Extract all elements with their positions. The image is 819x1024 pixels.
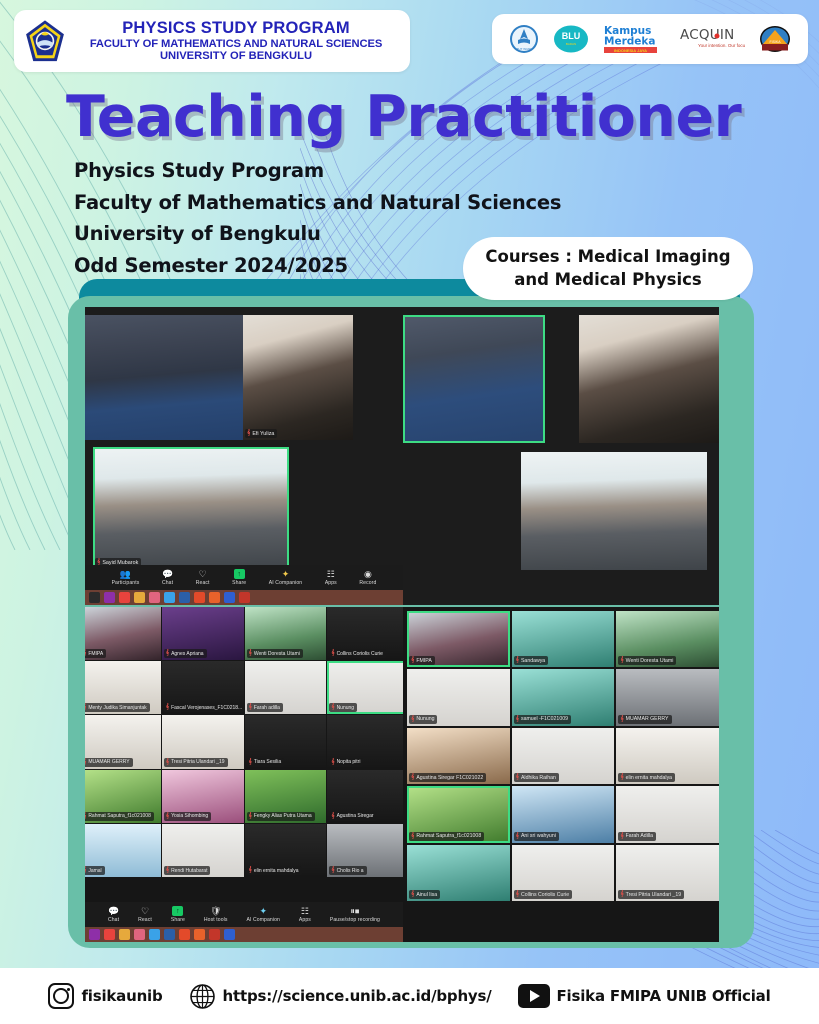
video-tile[interactable]: 𝄞Menty Judika Simanjuntak xyxy=(85,661,161,714)
video-tile[interactable]: 𝄞Aldhika Raihan xyxy=(512,728,615,784)
zoom-toolbar-controls: 💬Chat ♡React ↑Share 🛡Host tools ✦AI Comp… xyxy=(85,902,403,927)
taskbar-app-icon[interactable] xyxy=(134,929,145,940)
institution-header-card: PHYSICS STUDY PROGRAM FACULTY OF MATHEMA… xyxy=(14,10,410,72)
mic-icon: 𝄞 xyxy=(166,813,169,820)
tile-caption: 𝄞Aldhika Raihan xyxy=(514,773,559,782)
mic-icon: 𝄞 xyxy=(249,867,252,874)
mic-icon: 𝄞 xyxy=(620,833,623,840)
taskbar-app-icon[interactable] xyxy=(179,929,190,940)
video-tile[interactable]: 𝄞Wenti Doresta Utami xyxy=(245,607,327,660)
taskbar-app-icon[interactable] xyxy=(209,592,220,603)
mic-icon: 𝄞 xyxy=(331,650,334,657)
apps-icon: ☷ xyxy=(301,907,309,916)
header-line-1: PHYSICS STUDY PROGRAM xyxy=(72,19,400,37)
mic-icon: 𝄞 xyxy=(166,704,169,711)
taskbar-app-icon[interactable] xyxy=(89,592,100,603)
tile-caption: 𝄞Wenti Doresta Utami xyxy=(618,656,676,665)
footer-website[interactable]: https://science.unib.ac.id/bphys/ xyxy=(189,983,492,1010)
tile-caption: 𝄞Yosia Sihombing xyxy=(164,812,211,821)
participant-name: Menty Judika Simanjuntak xyxy=(88,705,146,711)
video-tile-active-speaker[interactable]: 𝄞Sayid Mubarok xyxy=(93,447,289,569)
video-tile[interactable]: 𝄞Nunung xyxy=(407,669,510,725)
gallery-grid: 𝄞FMIPA𝄞Sandawya𝄞Wenti Doresta Utami𝄞Nunu… xyxy=(407,611,719,901)
react-button[interactable]: ♡React xyxy=(138,907,152,923)
tile-caption: 𝄞Nopita pitri xyxy=(329,758,363,767)
chat-button[interactable]: 💬Chat xyxy=(108,907,119,923)
pause-stop-recording-button[interactable]: ⏸⏹Pause/stop recording xyxy=(330,907,380,923)
video-tile[interactable]: 𝄞Wenti Doresta Utami xyxy=(616,611,719,667)
svg-text:BLU: BLU xyxy=(562,31,581,41)
participant-name: Ainul lisa xyxy=(416,892,437,898)
accreditation-logos-card: TUT WURI BLU BADAN Kampus Merdeka INDONE… xyxy=(492,14,808,64)
tile-caption: 𝄞Cholis Rio a xyxy=(329,866,366,875)
participant-name: Yosia Sihombing xyxy=(171,813,208,819)
mic-icon: 𝄞 xyxy=(85,650,86,657)
svg-text:Your intention. Our focus.: Your intention. Our focus. xyxy=(698,43,745,48)
video-tile[interactable]: 𝄞Sayid Mubarok xyxy=(521,452,707,570)
mic-icon: 𝄞 xyxy=(516,891,519,898)
video-tile[interactable]: 𝄞Farah adilla xyxy=(245,661,327,714)
tile-caption: 𝄞Menty Judika Simanjuntak xyxy=(85,703,150,712)
taskbar-app-icon[interactable] xyxy=(134,592,145,603)
video-tile[interactable]: 𝄞Tresi Pitria Ulandari _19 xyxy=(616,845,719,901)
taskbar-app-icon[interactable] xyxy=(179,592,190,603)
zoom-window-top-left: 𝄞Efi Yuliza 𝄞Sayid Mubarok 👥Participants… xyxy=(85,307,403,605)
video-tile[interactable]: 𝄞Collins Coriolis Curie xyxy=(512,845,615,901)
tile-caption: 𝄞Rahmat Saputra_f1c021008 xyxy=(85,812,154,821)
zoom-window-bottom-left: 𝄞FMIPA𝄞Agnes Apriana𝄞Wenti Doresta Utami… xyxy=(85,607,403,942)
participant-name: elin ernita mahdalya xyxy=(626,775,672,781)
windows-taskbar xyxy=(85,590,403,605)
chat-icon: 💬 xyxy=(108,907,119,916)
blu-logo: BLU BADAN xyxy=(553,24,589,54)
taskbar-app-icon[interactable] xyxy=(194,592,205,603)
video-tile-active-speaker[interactable]: 𝄞FMIPA xyxy=(407,611,510,667)
video-tile[interactable]: 𝄞Jamal xyxy=(85,824,161,877)
participant-name: Nunung xyxy=(416,716,434,722)
tile-caption: 𝄞samuel -F1C021009 xyxy=(514,715,571,724)
mic-icon: 𝄞 xyxy=(85,813,86,820)
tile-caption: 𝄞Collins Coriolis Curie xyxy=(514,890,572,899)
subtitle-line-1: Physics Study Program xyxy=(74,155,634,187)
footer-youtube-label: Fisika FMIPA UNIB Official xyxy=(557,987,771,1005)
video-tile[interactable] xyxy=(85,315,243,440)
mic-icon: 𝄞 xyxy=(85,867,86,874)
taskbar-app-icon[interactable] xyxy=(149,929,160,940)
gallery-grid: 𝄞FMIPA𝄞Agnes Apriana𝄞Wenti Doresta Utami… xyxy=(85,607,403,877)
participants-icon: 👥 xyxy=(120,570,131,579)
tile-caption: 𝄞Nunung xyxy=(329,703,357,712)
tile-caption: 𝄞Tresi Pitria Ulandari _19 xyxy=(164,758,228,767)
tile-caption: 𝄞FMIPA xyxy=(409,656,435,665)
participant-name: Collins Coriolis Curie xyxy=(337,651,383,657)
tile-caption: 𝄞FMIPA xyxy=(85,649,106,658)
mic-icon: 𝄞 xyxy=(331,759,334,766)
tile-caption: 𝄞elin ernita mahdalya xyxy=(247,866,302,875)
mic-icon: 𝄞 xyxy=(249,759,252,766)
footer-instagram[interactable]: fisikaunib xyxy=(48,983,162,1009)
react-icon: ♡ xyxy=(141,907,149,916)
video-tile[interactable]: 𝄞Fengky Alias Putra Utama xyxy=(245,770,327,823)
taskbar-app-icon[interactable] xyxy=(119,592,130,603)
host-tools-icon: 🛡 xyxy=(210,907,221,916)
mic-icon: 𝄞 xyxy=(249,813,252,820)
ai-companion-icon: ✦ xyxy=(259,907,267,916)
mic-icon: 𝄞 xyxy=(166,867,169,874)
host-tools-button[interactable]: 🛡Host tools xyxy=(204,907,228,923)
participant-name: FMIPA xyxy=(88,651,103,657)
institution-header-text: PHYSICS STUDY PROGRAM FACULTY OF MATHEMA… xyxy=(72,19,400,63)
courses-badge-line-1: Courses : Medical Imaging xyxy=(485,246,730,268)
youtube-icon xyxy=(518,984,550,1008)
mic-icon: 𝄞 xyxy=(411,716,414,723)
react-button[interactable]: ♡React xyxy=(196,570,210,586)
participant-name: Collins Coriolis Curie xyxy=(521,892,569,898)
svg-text:INDONESIA JAYA: INDONESIA JAYA xyxy=(614,48,647,53)
mic-icon: 𝄞 xyxy=(620,657,623,664)
participant-name: Agustina Siregar F1C021022 xyxy=(416,775,483,781)
tile-caption: 𝄞Sandawya xyxy=(514,656,549,665)
taskbar-app-icon[interactable] xyxy=(239,592,250,603)
ai-companion-button[interactable]: ✦AI Companion xyxy=(246,907,279,923)
tile-caption: 𝄞Agustina Siregar xyxy=(329,812,376,821)
participant-name: Agnes Apriana xyxy=(171,651,204,657)
tile-caption: 𝄞Wenti Doresta Utami xyxy=(247,649,303,658)
mic-icon: 𝄞 xyxy=(249,650,252,657)
video-tile[interactable]: 𝄞FMIPA xyxy=(85,607,161,660)
mic-icon: 𝄞 xyxy=(249,704,252,711)
video-tile[interactable]: 𝄞MUAMAR GERRY xyxy=(616,669,719,725)
kampus-merdeka-logo: Kampus Merdeka INDONESIA JAYA xyxy=(603,22,665,56)
mic-icon: 𝄞 xyxy=(166,650,169,657)
participant-name: Tresi Pitria Ulandari _19 xyxy=(171,759,224,765)
mic-icon: 𝄞 xyxy=(411,774,414,781)
video-tile[interactable]: 𝄞Fascal Verojenases_F1C0218... xyxy=(162,661,244,714)
video-tile[interactable]: 𝄞Rahmat Saputra_f1c021008 xyxy=(85,770,161,823)
footer-youtube[interactable]: Fisika FMIPA UNIB Official xyxy=(518,984,771,1008)
tile-caption: 𝄞MUAMAR GERRY xyxy=(85,758,133,767)
tile-caption: 𝄞Rendi Hutabarat xyxy=(164,866,211,875)
tile-caption: 𝄞Rahmat Saputra_f1c021008 xyxy=(409,832,484,841)
taskbar-app-icon[interactable] xyxy=(149,592,160,603)
participant-name: Tresi Pitria Ulandari _19 xyxy=(626,892,681,898)
participant-name: Wenti Doresta Utami xyxy=(254,651,300,657)
fisika-unib-logo: FISIKA xyxy=(759,24,791,54)
participant-name: Ani sri wahyuni xyxy=(521,833,556,839)
header-line-3: UNIVERSITY OF BENGKULU xyxy=(72,50,400,63)
taskbar-app-icon[interactable] xyxy=(89,929,100,940)
video-tile-active-speaker[interactable]: 𝄞Nunung xyxy=(327,661,403,714)
video-tile[interactable]: 𝄞Agustina Siregar xyxy=(327,770,403,823)
participant-name: Fengky Alias Putra Utama xyxy=(254,813,312,819)
mic-icon: 𝄞 xyxy=(516,833,519,840)
tile-caption: 𝄞MUAMAR GERRY xyxy=(618,715,671,724)
tile-caption: 𝄞Farah adilla xyxy=(247,703,283,712)
pause-stop-recording-icon: ⏸⏹ xyxy=(350,907,359,916)
apps-button[interactable]: ☷Apps xyxy=(299,907,311,923)
record-button[interactable]: ◉Record xyxy=(359,570,376,586)
participant-name: Cholis Rio a xyxy=(337,868,364,874)
share-icon: ↑ xyxy=(234,569,245,579)
participant-name: Jamal xyxy=(88,868,101,874)
chat-icon: 💬 xyxy=(162,570,173,579)
chat-button[interactable]: 💬Chat xyxy=(162,570,173,586)
ai-companion-icon: ✦ xyxy=(282,570,290,579)
subtitle-line-2: Faculty of Mathematics and Natural Scien… xyxy=(74,187,634,219)
video-tile[interactable]: 𝄞Rendi Hutabarat xyxy=(162,824,244,877)
apps-button[interactable]: ☷Apps xyxy=(325,570,337,586)
zoom-toolbar-controls: 👥Participants 💬Chat ♡React ↑Share ✦AI Co… xyxy=(85,565,403,590)
mic-icon: 𝄞 xyxy=(620,716,623,723)
participant-name: Rahmat Saputra_f1c021008 xyxy=(416,833,481,839)
taskbar-app-icon[interactable] xyxy=(119,929,130,940)
participant-name: Nunung xyxy=(337,705,355,711)
mic-icon: 𝄞 xyxy=(331,867,334,874)
zoom-screenshot-collage: 𝄞Efi Yuliza 𝄞Sayid Mubarok 👥Participants… xyxy=(85,307,719,942)
participant-name: FMIPA xyxy=(416,658,431,664)
participant-name: Sandawya xyxy=(521,658,545,664)
share-button[interactable]: ↑Share xyxy=(232,569,246,586)
mic-icon: 𝄞 xyxy=(620,891,623,898)
courses-badge: Courses : Medical Imaging and Medical Ph… xyxy=(463,237,753,300)
mic-icon: 𝄞 xyxy=(620,774,623,781)
participant-name: MUAMAR GERRY xyxy=(626,716,669,722)
windows-taskbar xyxy=(85,927,403,942)
mic-icon: 𝄞 xyxy=(331,704,334,711)
mic-icon: 𝄞 xyxy=(516,716,519,723)
svg-text:TUT WURI: TUT WURI xyxy=(517,47,532,51)
mic-icon: 𝄞 xyxy=(516,774,519,781)
tile-caption: 𝄞Farah Adilla xyxy=(618,832,656,841)
taskbar-app-icon[interactable] xyxy=(209,929,220,940)
video-tile[interactable]: 𝄞Yosia Sihombing xyxy=(162,770,244,823)
video-tile[interactable]: 𝄞Tiara Sesilia xyxy=(245,715,327,768)
poster-canvas: PHYSICS STUDY PROGRAM FACULTY OF MATHEMA… xyxy=(0,0,819,968)
tile-caption: 𝄞Fascal Verojenases_F1C0218... xyxy=(164,703,244,712)
svg-text:BADAN: BADAN xyxy=(566,42,576,46)
mic-icon: 𝄞 xyxy=(411,891,414,898)
courses-badge-line-2: and Medical Physics xyxy=(514,269,702,291)
participant-name: Fascal Verojenases_F1C0218... xyxy=(171,705,242,711)
video-tile[interactable]: 𝄞Tresi Pitria Ulandari _19 xyxy=(162,715,244,768)
participant-name: Aldhika Raihan xyxy=(521,775,556,781)
mic-icon: 𝄞 xyxy=(85,704,86,711)
taskbar-app-icon[interactable] xyxy=(164,929,175,940)
record-icon: ◉ xyxy=(364,570,372,579)
video-tile[interactable]: 𝄞Agustina Siregar F1C021022 xyxy=(407,728,510,784)
taskbar-app-icon[interactable] xyxy=(104,592,115,603)
video-tile[interactable]: 𝄞Agnes Apriana xyxy=(162,607,244,660)
video-tile[interactable]: 𝄞Sandawya xyxy=(512,611,615,667)
tut-wuri-handayani-logo: TUT WURI xyxy=(509,24,539,54)
footer-instagram-label: fisikaunib xyxy=(81,987,162,1005)
video-tile[interactable]: 𝄞Collins Coriolis Curie xyxy=(327,607,403,660)
tile-caption: 𝄞Agnes Apriana xyxy=(164,649,207,658)
svg-text:Merdeka: Merdeka xyxy=(604,36,655,48)
page-title: Teaching Practitioner xyxy=(66,88,766,147)
video-tile[interactable]: 𝄞samuel -F1C021009 xyxy=(512,669,615,725)
video-tile[interactable]: 𝄞elin ernita mahdalya xyxy=(616,728,719,784)
taskbar-app-icon[interactable] xyxy=(224,929,235,940)
svg-text:ACQUIN: ACQUIN xyxy=(680,27,735,43)
tile-caption: 𝄞elin ernita mahdalya xyxy=(618,773,675,782)
tile-caption: 𝄞Jamal xyxy=(85,866,105,875)
tile-caption: 𝄞Tresi Pitria Ulandari _19 xyxy=(618,890,684,899)
ai-companion-button[interactable]: ✦AI Companion xyxy=(269,570,302,586)
participant-name: Wenti Doresta Utami xyxy=(626,658,674,664)
tile-caption: 𝄞Efi Yuliza xyxy=(245,429,277,438)
share-icon: ↑ xyxy=(172,906,183,916)
video-tile-active-speaker[interactable] xyxy=(403,315,545,443)
apps-icon: ☷ xyxy=(327,570,335,579)
tile-caption: 𝄞Agustina Siregar F1C021022 xyxy=(409,773,486,782)
tile-caption: 𝄞Fengky Alias Putra Utama xyxy=(247,812,315,821)
participant-name: Rendi Hutabarat xyxy=(171,868,207,874)
taskbar-app-icon[interactable] xyxy=(224,592,235,603)
acquin-logo: ACQUIN Your intention. Our focus. xyxy=(679,24,745,54)
participant-name: Nopita pitri xyxy=(337,759,361,765)
unib-shield-logo xyxy=(24,19,66,63)
participant-name: Farah Adilla xyxy=(626,833,653,839)
video-tile[interactable]: 𝄞Ani sri wahyuni xyxy=(512,786,615,842)
participant-name: Tiara Sesilia xyxy=(254,759,281,765)
taskbar-app-icon[interactable] xyxy=(194,929,205,940)
mic-icon: 𝄞 xyxy=(411,657,414,664)
zoom-window-bottom-right: 𝄞FMIPA𝄞Sandawya𝄞Wenti Doresta Utami𝄞Nunu… xyxy=(403,607,719,942)
mic-icon: 𝄞 xyxy=(166,759,169,766)
participant-name: MUAMAR GERRY xyxy=(88,759,129,765)
participant-name: samuel -F1C021009 xyxy=(521,716,568,722)
video-tile[interactable]: 𝄞elin ernita mahdalya xyxy=(245,824,327,877)
taskbar-app-icon[interactable] xyxy=(104,929,115,940)
react-icon: ♡ xyxy=(199,570,207,579)
tile-caption: 𝄞Ainul lisa xyxy=(409,890,440,899)
mic-icon: 𝄞 xyxy=(516,657,519,664)
zoom-window-top-right: 𝄞Efi Yuliza 𝄞Sayid Mubarok xyxy=(403,307,719,605)
tile-caption: 𝄞Nunung xyxy=(409,715,437,724)
share-button[interactable]: ↑Share xyxy=(171,906,185,923)
instagram-icon xyxy=(48,983,74,1009)
footer-website-label: https://science.unib.ac.id/bphys/ xyxy=(223,987,492,1005)
globe-icon xyxy=(189,983,216,1010)
participant-name: Rahmat Saputra_f1c021008 xyxy=(88,813,151,819)
mic-icon: 𝄞 xyxy=(85,759,86,766)
tile-caption: 𝄞Collins Coriolis Curie xyxy=(329,649,386,658)
video-tile[interactable]: 𝄞Nopita pitri xyxy=(327,715,403,768)
zoom-toolbar: 👥Participants 💬Chat ♡React ↑Share ✦AI Co… xyxy=(85,565,403,605)
video-tile[interactable]: 𝄞Cholis Rio a xyxy=(327,824,403,877)
video-tile[interactable]: 𝄞Efi Yuliza xyxy=(243,315,353,440)
participants-button[interactable]: 👥Participants xyxy=(112,570,140,586)
participant-name: elin ernita mahdalya xyxy=(254,868,299,874)
footer-social-bar: fisikaunib https://science.unib.ac.id/bp… xyxy=(0,968,819,1024)
mic-icon: 𝄞 xyxy=(247,430,250,437)
zoom-toolbar: 💬Chat ♡React ↑Share 🛡Host tools ✦AI Comp… xyxy=(85,902,403,942)
svg-text:FISIKA: FISIKA xyxy=(769,40,781,44)
video-tile[interactable]: 𝄞Efi Yuliza xyxy=(579,315,719,443)
video-tile[interactable]: 𝄞MUAMAR GERRY xyxy=(85,715,161,768)
participant-name: Agustina Siregar xyxy=(337,813,374,819)
video-tile[interactable]: 𝄞Ainul lisa xyxy=(407,845,510,901)
mic-icon: 𝄞 xyxy=(411,833,414,840)
tile-caption: 𝄞Ani sri wahyuni xyxy=(514,832,559,841)
video-tile[interactable]: 𝄞Farah Adilla xyxy=(616,786,719,842)
video-tile-active-speaker[interactable]: 𝄞Rahmat Saputra_f1c021008 xyxy=(407,786,510,842)
header-line-2: FACULTY OF MATHEMATICS AND NATURAL SCIEN… xyxy=(72,38,400,51)
taskbar-app-icon[interactable] xyxy=(164,592,175,603)
participant-name: Farah adilla xyxy=(254,705,280,711)
tile-caption: 𝄞Tiara Sesilia xyxy=(247,758,285,767)
mic-icon: 𝄞 xyxy=(331,813,334,820)
